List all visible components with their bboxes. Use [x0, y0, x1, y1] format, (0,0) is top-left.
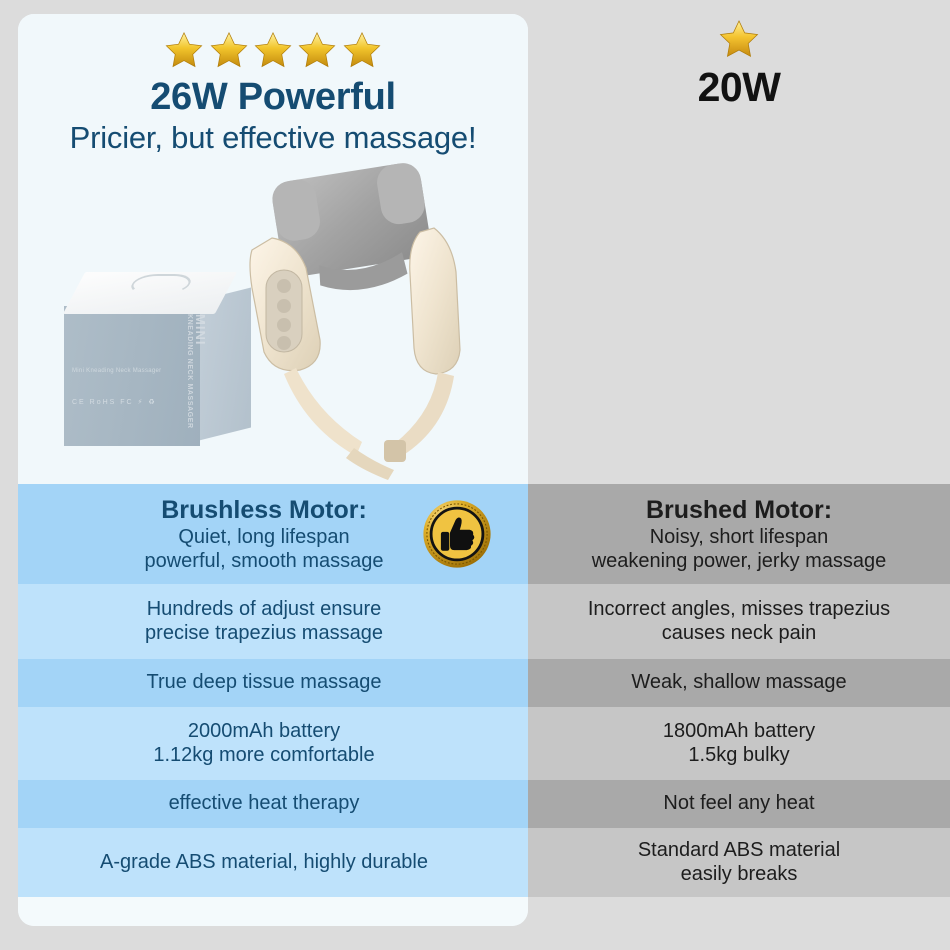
rating-stars [18, 30, 528, 72]
table-cell-featured: A-grade ABS material, highly durable [0, 828, 528, 897]
star-icon [717, 18, 761, 62]
cell-line: 2000mAh battery [188, 720, 340, 742]
cell-text: Weak, shallow massage [609, 671, 868, 695]
cell-line: weakening power, jerky massage [592, 550, 887, 572]
cell-heading: Brushless Motor: [144, 495, 383, 525]
cell-line: Weak, shallow massage [631, 671, 846, 693]
table-cell-competitor: Not feel any heat [528, 780, 950, 828]
table-cell-featured: True deep tissue massage [0, 659, 528, 707]
cell-line: Incorrect angles, misses trapezius [588, 598, 890, 620]
card-corner-mask-left [0, 14, 18, 32]
cell-line: Not feel any heat [663, 792, 814, 814]
card-edge-mask-left [0, 484, 18, 897]
comparison-infographic: 20W [0, 0, 950, 950]
cell-line: 1.12kg more comfortable [153, 744, 374, 766]
table-row: Brushless Motor: Quiet, long lifespan po… [0, 484, 950, 584]
table-cell-competitor: Incorrect angles, misses trapezius cause… [528, 584, 950, 659]
heat-button [277, 318, 291, 332]
star-icon [296, 30, 338, 72]
featured-subtitle: Pricier, but effective massage! [18, 120, 528, 156]
cell-line: powerful, smooth massage [144, 550, 383, 572]
cell-line: Noisy, short lifespan [650, 526, 829, 548]
cell-text: A-grade ABS material, highly durable [64, 851, 464, 875]
competitor-hero: 20W [528, 0, 950, 484]
table-row: Hundreds of adjust ensure precise trapez… [0, 584, 950, 659]
featured-product-image [244, 162, 494, 482]
star-icon [163, 30, 205, 72]
table-cell-featured: Hundreds of adjust ensure precise trapez… [0, 584, 528, 659]
cell-line: True deep tissue massage [147, 671, 382, 693]
cell-text: Incorrect angles, misses trapezius cause… [566, 598, 912, 645]
table-cell-competitor: Brushed Motor: Noisy, short lifespan wea… [528, 484, 950, 584]
cell-line: causes neck pain [662, 622, 817, 644]
featured-title: 26W Powerful [18, 76, 528, 119]
power-button [277, 279, 291, 293]
box-cert-marks: CE RoHS FC ⚡ ♻ [72, 398, 157, 406]
competitor-header: 20W [528, 18, 950, 109]
cell-line: Hundreds of adjust ensure [147, 598, 382, 620]
table-row: A-grade ABS material, highly durable Sta… [0, 828, 950, 897]
mode-button [277, 299, 291, 313]
cell-line: 1.5kg bulky [688, 744, 789, 766]
featured-retail-box: MINI KNEADING NECK MASSAGER Mini Kneadin… [60, 272, 255, 457]
cell-line: easily breaks [681, 863, 798, 885]
table-cell-featured: 2000mAh battery 1.12kg more comfortable [0, 707, 528, 780]
star-icon [208, 30, 250, 72]
box-tiny-text: Mini Kneading Neck Massager [72, 368, 161, 374]
table-cell-competitor: Weak, shallow massage [528, 659, 950, 707]
cell-text: 2000mAh battery 1.12kg more comfortable [117, 720, 410, 767]
cell-text: 1800mAh battery 1.5kg bulky [641, 720, 837, 767]
star-icon [252, 30, 294, 72]
cell-text: Brushless Motor: Quiet, long lifespan po… [108, 495, 419, 573]
table-cell-featured: effective heat therapy [0, 780, 528, 828]
featured-hero: 26W Powerful Pricier, but effective mass… [18, 14, 528, 484]
table-row: 2000mAh battery 1.12kg more comfortable … [0, 707, 950, 780]
cell-text: effective heat therapy [133, 792, 396, 816]
box-front [64, 306, 200, 446]
cell-line: Quiet, long lifespan [178, 526, 349, 548]
box-brand-text: MINI KNEADING NECK MASSAGER [186, 314, 208, 429]
cell-text: True deep tissue massage [111, 671, 418, 695]
card-footer-strip [18, 897, 528, 926]
cell-text: Hundreds of adjust ensure precise trapez… [109, 598, 419, 645]
cell-line: A-grade ABS material, highly durable [100, 851, 428, 873]
table-row: True deep tissue massage Weak, shallow m… [0, 659, 950, 707]
table-cell-featured: Brushless Motor: Quiet, long lifespan po… [0, 484, 528, 584]
competitor-title: 20W [528, 66, 950, 109]
competitor-footer-strip [528, 897, 950, 950]
cell-text: Not feel any heat [641, 792, 836, 816]
cell-line: 1800mAh battery [663, 720, 815, 742]
table-cell-competitor: Standard ABS material easily breaks [528, 828, 950, 897]
comparison-table: Brushless Motor: Quiet, long lifespan po… [0, 484, 950, 897]
thumbs-up-icon [422, 499, 492, 569]
cell-line: precise trapezius massage [145, 622, 383, 644]
cell-heading: Brushed Motor: [592, 495, 887, 525]
cell-line: effective heat therapy [169, 792, 360, 814]
cell-text: Standard ABS material easily breaks [616, 839, 862, 886]
star-icon [341, 30, 383, 72]
table-row: effective heat therapy Not feel any heat [0, 780, 950, 828]
table-cell-competitor: 1800mAh battery 1.5kg bulky [528, 707, 950, 780]
speed-button [277, 336, 291, 350]
cell-line: Standard ABS material [638, 839, 840, 861]
cell-text: Brushed Motor: Noisy, short lifespan wea… [570, 495, 909, 573]
